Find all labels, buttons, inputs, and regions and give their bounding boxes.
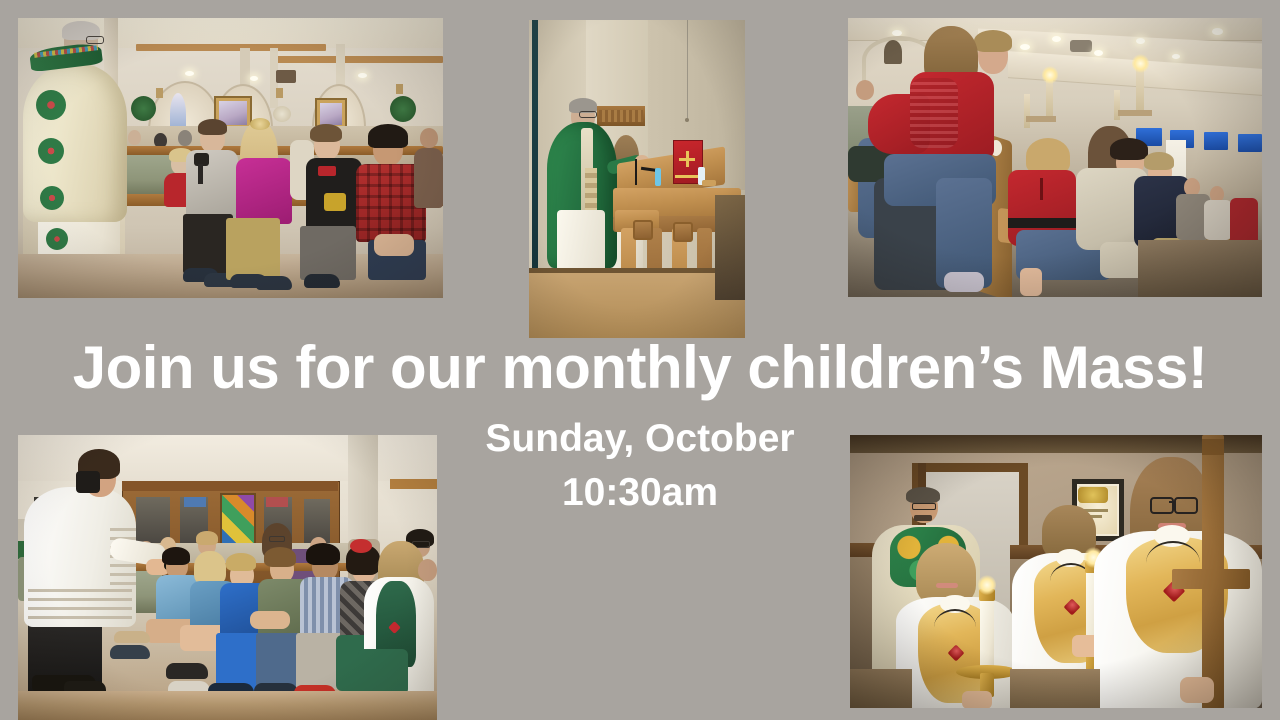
photo-children-pews xyxy=(848,18,1262,297)
subheading-block: Sunday, October 10:30am xyxy=(340,412,940,520)
photo-ambo-reading xyxy=(529,20,745,338)
subheading-time: 10:30am xyxy=(340,466,940,520)
poster-canvas: Join us for our monthly children’s Mass!… xyxy=(0,0,1280,720)
photo-parish-priest-children xyxy=(18,18,443,298)
headline-text: Join us for our monthly children’s Mass! xyxy=(0,336,1280,401)
subheading-date: Sunday, October xyxy=(340,412,940,466)
